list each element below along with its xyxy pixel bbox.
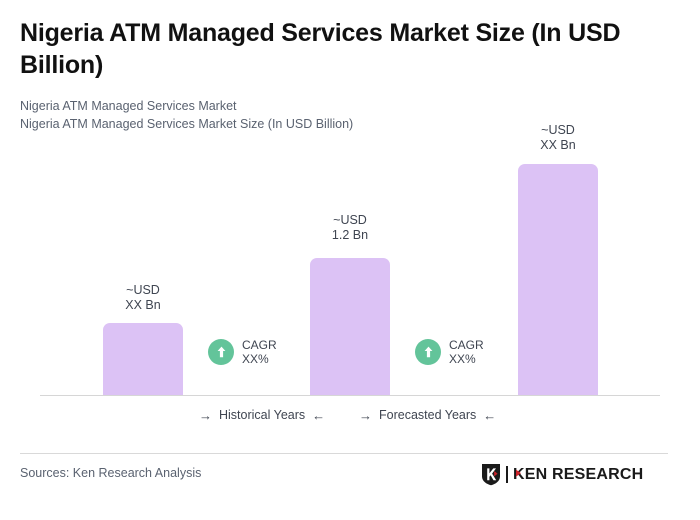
bar-value-label-3: ~USD XX Bn [518, 123, 598, 152]
cagr-annotation-2-line2: XX% [449, 352, 476, 366]
period-label-forecasted: → Forecasted Years ← [359, 408, 496, 422]
bar-value-label-2-line2: 1.2 Bn [332, 228, 368, 242]
bar-value-label-3-line1: ~USD [541, 123, 575, 137]
cagr-annotation-1-line2: XX% [242, 352, 269, 366]
period-label-forecasted-text: Forecasted Years [379, 408, 476, 422]
period-label-historical-text: Historical Years [219, 408, 305, 422]
bar-value-label-2-line1: ~USD [333, 213, 367, 227]
bar-1[interactable] [103, 323, 183, 395]
cagr-annotation-1-line1: CAGR [242, 338, 277, 352]
cagr-annotation-2-text: CAGR XX% [449, 338, 484, 366]
bar-3[interactable] [518, 164, 598, 395]
arrow-right-icon: → [199, 409, 212, 422]
cagr-annotation-1: CAGR XX% [208, 338, 277, 366]
cagr-annotation-2-line1: CAGR [449, 338, 484, 352]
sources-text: Sources: Ken Research Analysis [20, 466, 201, 480]
svg-text:KEN RESEARCH: KEN RESEARCH [513, 466, 643, 483]
bar-value-label-3-line2: XX Bn [540, 138, 575, 152]
bar-value-label-1-line2: XX Bn [125, 298, 160, 312]
plot-area: ~USD XX Bn ~USD 1.2 Bn ~USD XX Bn CAGR X… [0, 0, 700, 440]
ken-research-shield-icon [481, 463, 501, 486]
bar-value-label-1: ~USD XX Bn [103, 283, 183, 312]
period-label-historical: → Historical Years ← [199, 408, 325, 422]
arrow-up-icon [208, 339, 234, 365]
bar-value-label-1-line1: ~USD [126, 283, 160, 297]
chart-page: Nigeria ATM Managed Services Market Size… [0, 0, 700, 520]
ken-research-wordmark: KEN RESEARCH [513, 464, 665, 484]
arrow-left-icon: ← [312, 409, 325, 422]
arrow-left-icon: ← [483, 409, 496, 422]
ken-research-logo: KEN RESEARCH [481, 462, 665, 486]
cagr-annotation-1-text: CAGR XX% [242, 338, 277, 366]
logo-separator [506, 466, 508, 483]
cagr-annotation-2: CAGR XX% [415, 338, 484, 366]
x-axis-baseline [40, 395, 660, 396]
arrow-up-icon [415, 339, 441, 365]
arrow-right-icon: → [359, 409, 372, 422]
bar-2[interactable] [310, 258, 390, 395]
footer-divider [20, 453, 668, 454]
bar-value-label-2: ~USD 1.2 Bn [310, 213, 390, 242]
